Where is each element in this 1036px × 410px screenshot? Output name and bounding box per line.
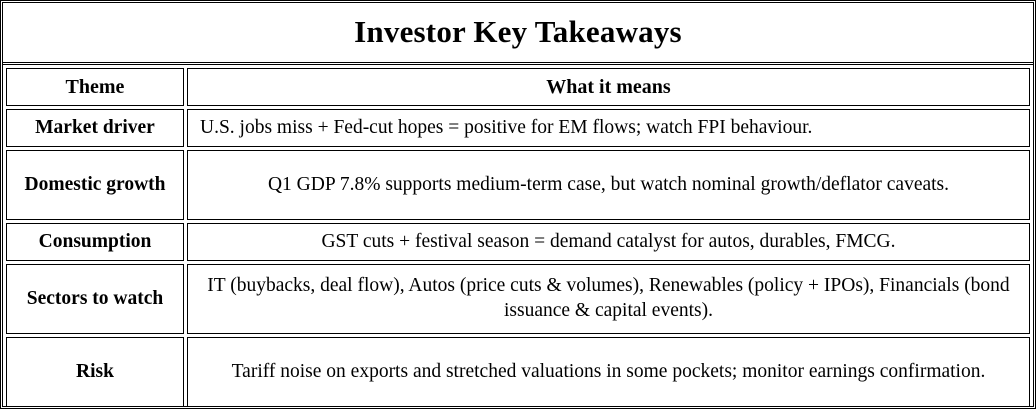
table-row: Market driver U.S. jobs miss + Fed-cut h… — [6, 109, 1030, 147]
table-row: Risk Tariff noise on exports and stretch… — [6, 337, 1030, 407]
column-header-what-it-means: What it means — [187, 68, 1030, 106]
theme-label-domestic-growth: Domestic growth — [6, 150, 184, 220]
table-row: Sectors to watch IT (buybacks, deal flow… — [6, 264, 1030, 334]
theme-label-risk: Risk — [6, 337, 184, 407]
theme-label-consumption: Consumption — [6, 223, 184, 261]
meaning-text-consumption: GST cuts + festival season = demand cata… — [187, 223, 1030, 261]
investor-takeaways-table: Theme What it means Market driver U.S. j… — [3, 65, 1033, 410]
theme-label-market-driver: Market driver — [6, 109, 184, 147]
document-title-band: Investor Key Takeaways — [3, 3, 1033, 65]
meaning-text-market-driver: U.S. jobs miss + Fed-cut hopes = positiv… — [187, 109, 1030, 147]
table-row: Consumption GST cuts + festival season =… — [6, 223, 1030, 261]
table-header-row: Theme What it means — [6, 68, 1030, 106]
theme-label-sectors-to-watch: Sectors to watch — [6, 264, 184, 334]
meaning-text-sectors-to-watch: IT (buybacks, deal flow), Autos (price c… — [187, 264, 1030, 334]
page-title: Investor Key Takeaways — [354, 16, 682, 49]
meaning-text-domestic-growth: Q1 GDP 7.8% supports medium-term case, b… — [187, 150, 1030, 220]
takeaways-sheet: Investor Key Takeaways Theme What it mea… — [0, 0, 1036, 409]
column-header-theme: Theme — [6, 68, 184, 106]
table-row: Domestic growth Q1 GDP 7.8% supports med… — [6, 150, 1030, 220]
meaning-text-risk: Tariff noise on exports and stretched va… — [187, 337, 1030, 407]
